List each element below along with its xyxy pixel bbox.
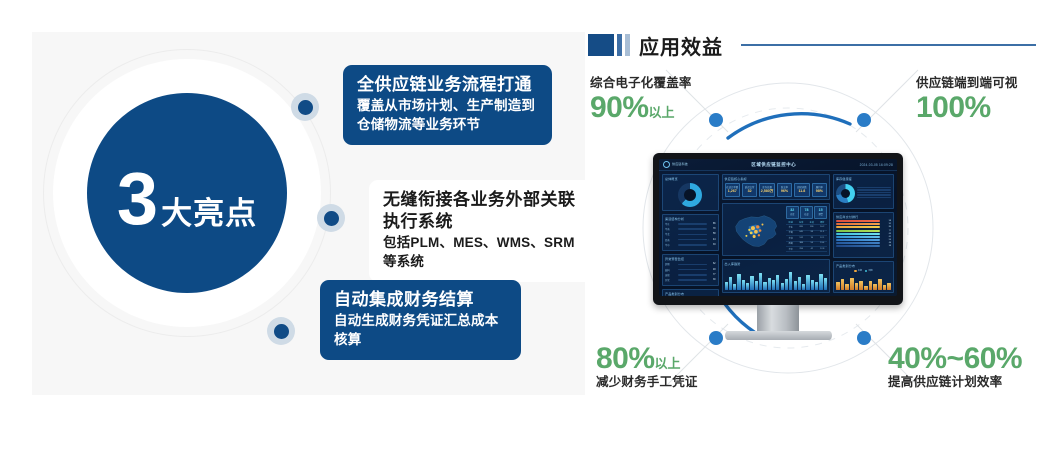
panel-overview-title: 总体概览 [665,177,716,181]
highlight-card-2-title: 无缝衔接各业务外部关联执行系统 [383,189,584,233]
stat-coverage-rate: 综合电子化覆盖率 90%以上 [590,76,692,124]
stat-planning-efficiency-label: 提高供应链计划效率 [888,375,1022,390]
dashboard-timestamp: 2024-03-05 16:09:28 [860,163,893,167]
panel-category: 产品类别分布 [662,289,719,296]
highlight-card-3-title: 自动集成财务结算 [334,289,507,311]
stat-manual-voucher-reduction-value: 80%以上 [596,342,698,375]
map-side-stats: 32仓库 78在途 15预警 区域在库在途周转 华东82013610.2 华南6… [786,206,827,254]
kpi-row: 在途订单量1,267 延迟交付32 库存总额2,580万 准交率96% 周转天数… [725,183,827,197]
highlights-count-number: 3 [117,166,157,233]
panel-trend: 出入库趋势 [722,259,830,293]
panel-product-trend-title: 产品类别分布 [836,264,891,268]
panel-category-title: 产品类别分布 [665,292,716,296]
highlights-panel: 3 大亮点 全供应链业务流程打通 覆盖从市场计划、生产制造到仓储物流等业务环节 … [32,32,585,395]
highlight-card-2: 无缝衔接各业务外部关联执行系统 包括PLM、MES、WMS、SRM等系统 [369,180,598,282]
slide-canvas: 3 大亮点 全供应链业务流程打通 覆盖从市场计划、生产制造到仓储物流等业务环节 … [0,0,1048,462]
dashboard-left-column: 总体概览 渠道结构分析 华东86 华南70 华北58 西南44 华中33 [662,174,719,293]
stat-coverage-rate-value: 90%以上 [590,91,692,124]
stat-visibility-value: 100% [916,91,1018,124]
bullet-marker-2 [317,204,345,232]
highlight-card-1-title: 全供应链业务流程打通 [357,74,538,96]
kpi-card: 履约率98% [812,183,827,197]
panel-inventory-title: 库存健康度 [836,177,891,181]
highlights-count-label: 大亮点 [161,198,257,229]
panel-kpis-title: 供应链核心指标 [725,177,827,181]
trend-bar-chart [725,268,827,290]
stat-visibility: 供应链端到端可视 100% [916,76,1018,124]
region-table: 区域在库在途周转 华东82013610.2 华南6459811.5 华北5127… [786,220,827,253]
dashboard-brand: 供应链科技 [672,163,688,166]
product-trend-legend: 本期 同期 [836,269,891,272]
logo-mark-icon [663,161,670,168]
panel-overview: 总体概览 [662,174,719,211]
panel-kpis: 供应链核心指标 在途订单量1,267 延迟交付32 库存总额2,580万 准交率… [722,174,830,200]
stat-coverage-rate-label: 综合电子化覆盖率 [590,76,692,91]
highlight-card-3-subtitle: 自动生成财务凭证汇总成本核算 [334,312,507,349]
stat-visibility-label: 供应链端到端可视 [916,76,1018,91]
kpi-card: 周转天数11.8 [794,183,809,197]
panel-product-trend: 产品类别分布 本期 同期 [833,261,894,293]
highlight-card-1: 全供应链业务流程打通 覆盖从市场计划、生产制造到仓储物流等业务环节 [343,65,552,145]
stat-manual-voucher-reduction-label: 减少财务手工凭证 [596,375,698,390]
stat-planning-efficiency-value: 40%~60% [888,342,1022,375]
kpi-card: 准交率96% [777,183,792,197]
monitor-stand-base [725,331,832,340]
panel-exception: 异常预警监控 超期62 缺料48 滞留77 异常30 [662,254,719,286]
dashboard-right-column: 库存健康度 [833,174,894,293]
map-and-table: 32仓库 78在途 15预警 区域在库在途周转 华东82013610.2 华南6… [725,206,827,254]
dashboard-body: 总体概览 渠道结构分析 华东86 华南70 华北58 西南44 华中33 [659,171,897,296]
header-divider-line [741,44,1036,46]
dashboard-title: 区域供应链监控中心 [751,162,796,168]
highlight-card-3: 自动集成财务结算 自动生成财务凭证汇总成本核算 [320,280,521,360]
section-marker-icon [588,34,630,56]
highlights-count-circle: 3 大亮点 [87,93,287,293]
stat-planning-efficiency: 40%~60% 提高供应链计划效率 [888,342,1022,390]
monitor-bezel: 供应链科技 区域供应链监控中心 2024-03-05 16:09:28 总体概览 [653,153,903,305]
product-trend-bar-chart [836,273,891,290]
dashboard-screen: 供应链科技 区域供应链监控中心 2024-03-05 16:09:28 总体概览 [659,159,897,296]
panel-map: 32仓库 78在途 15预警 区域在库在途周转 华东82013610.2 华南6… [722,203,830,257]
dashboard-logo: 供应链科技 [663,161,688,168]
table-row: 华中2964212.8 [786,247,827,252]
map-mini-cards: 32仓库 78在途 15预警 [786,206,827,219]
panel-supplier-rank: 供应商交付排行 98 91 84 77 69 61 54 46 38 [833,212,894,258]
panel-trend-title: 出入库趋势 [725,262,827,266]
bullet-marker-3 [267,317,295,345]
bullet-marker-1 [291,93,319,121]
benefits-panel: 应用效益 综合电子化覆盖率 90%以上 供应链端到端可视 100% [588,20,1038,420]
panel-inventory: 库存健康度 [833,174,894,209]
highlight-card-2-subtitle: 包括PLM、MES、WMS、SRM等系统 [383,234,584,271]
monitor-stand-neck [757,305,799,333]
panel-supplier-rank-title: 供应商交付排行 [836,215,891,219]
dashboard-center-column: 供应链核心指标 在途订单量1,267 延迟交付32 库存总额2,580万 准交率… [722,174,830,293]
section-header: 应用效益 [588,30,1038,60]
highlight-card-1-subtitle: 覆盖从市场计划、生产制造到仓储物流等业务环节 [357,97,538,134]
panel-structure: 渠道结构分析 华东86 华南70 华北58 西南44 华中33 [662,214,719,251]
kpi-card: 库存总额2,580万 [759,183,774,197]
stat-manual-voucher-reduction: 80%以上 减少财务手工凭证 [596,342,698,390]
inventory-donut-chart [836,184,855,203]
monitor-mockup: 供应链科技 区域供应链监控中心 2024-03-05 16:09:28 总体概览 [653,153,921,341]
dashboard-topbar: 供应链科技 区域供应链监控中心 2024-03-05 16:09:28 [659,159,897,171]
panel-exception-title: 异常预警监控 [665,257,716,261]
section-title: 应用效益 [639,31,723,60]
china-map-chart [725,206,784,254]
panel-structure-title: 渠道结构分析 [665,217,716,221]
kpi-card: 在途订单量1,267 [725,183,740,197]
kpi-card: 延迟交付32 [742,183,757,197]
overview-gauge-chart [678,183,702,207]
